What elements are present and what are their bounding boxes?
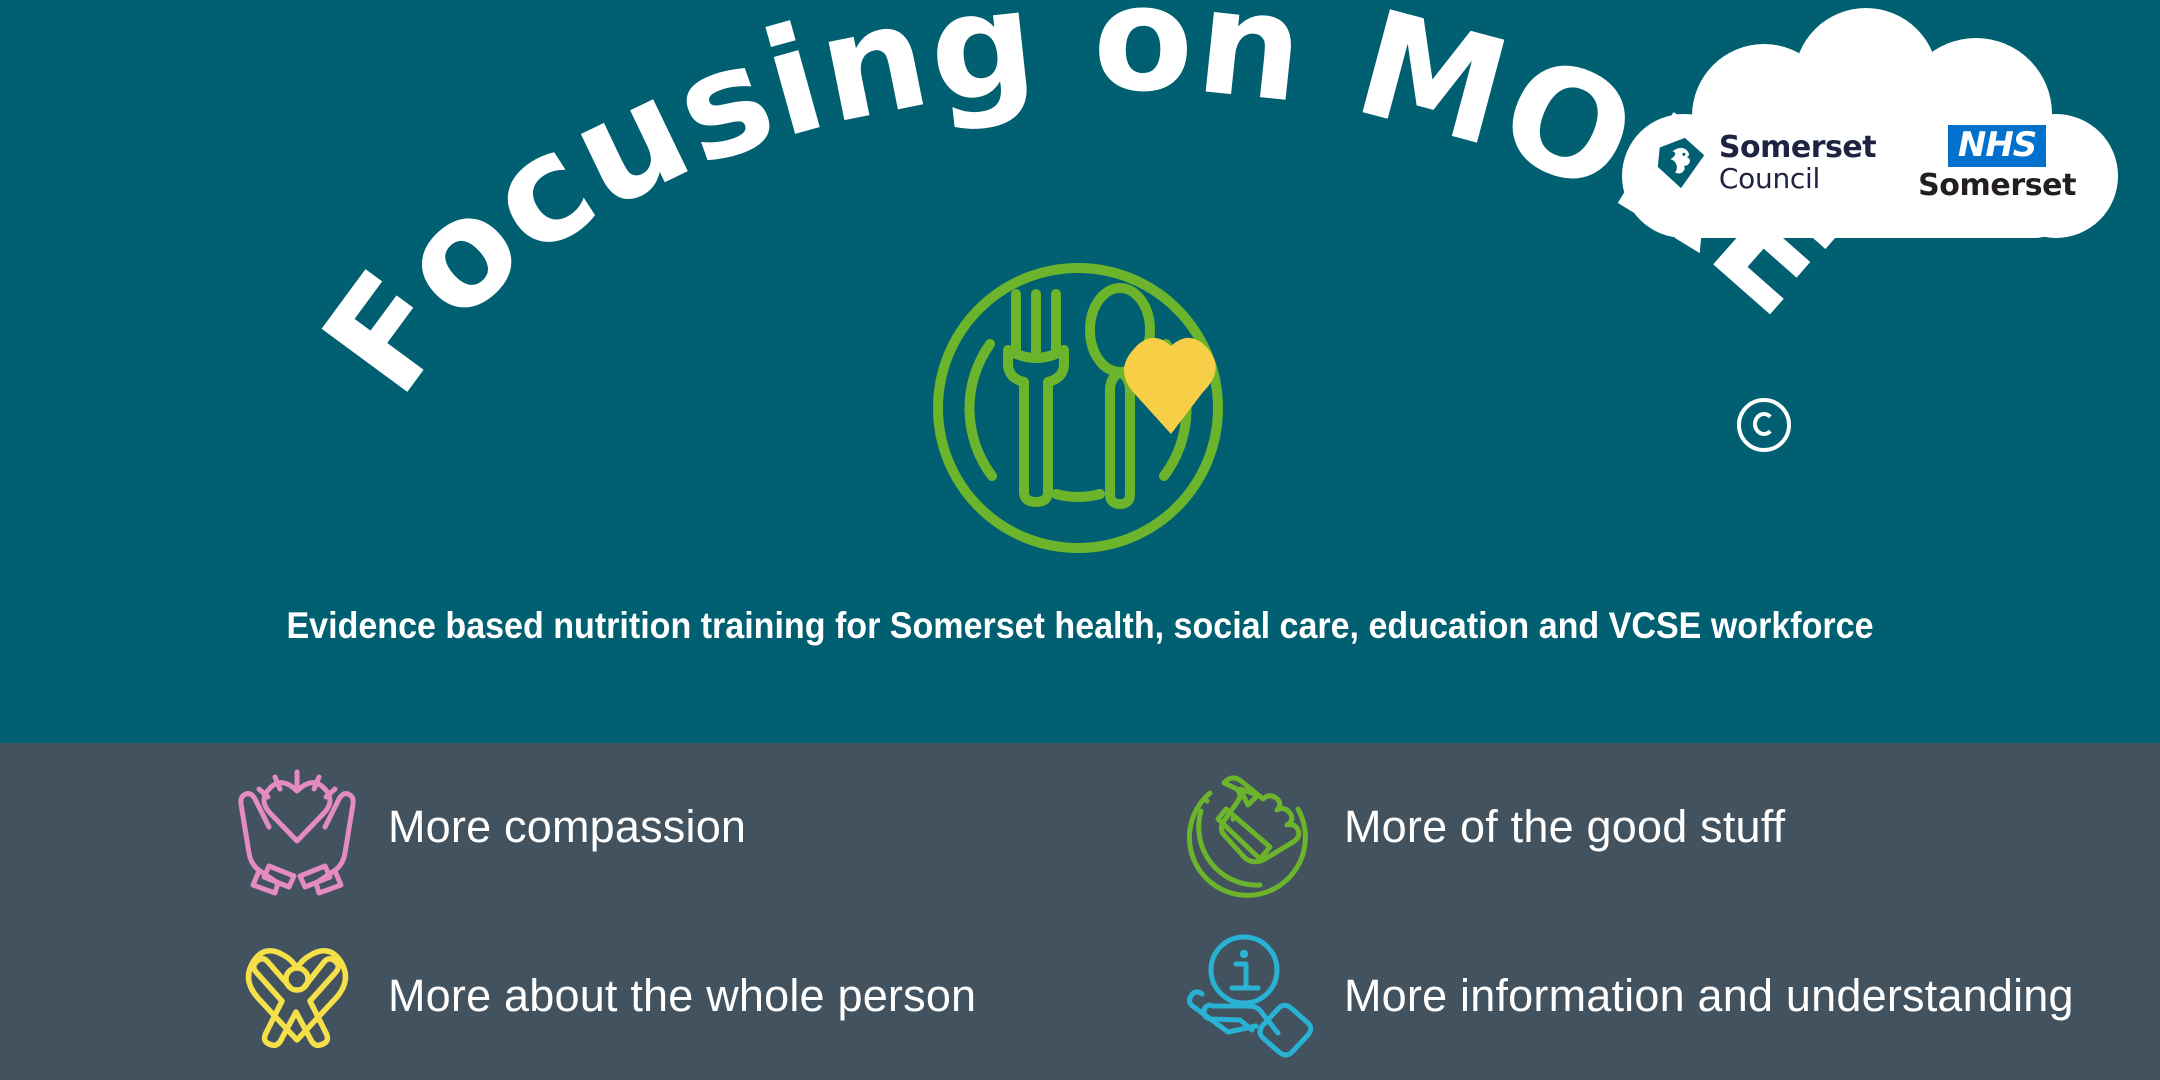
feature-item-information: More information and understanding <box>1090 911 2160 1080</box>
nhs-badge: NHS <box>1948 125 2046 167</box>
feature-label-good-stuff: More of the good stuff <box>1344 801 1785 853</box>
feature-label-information: More information and understanding <box>1344 970 2074 1022</box>
somerset-council-wordmark: Somerset Council <box>1719 133 1876 193</box>
feature-item-good-stuff: More of the good stuff <box>1090 743 2160 911</box>
nhs-badge-text: NHS <box>1958 128 2036 162</box>
feature-grid: More compassion More of the good <box>0 743 2160 1080</box>
copyright-icon <box>1737 398 1791 452</box>
nhs-somerset-logo: NHS Somerset <box>1918 125 2076 201</box>
heart-person-icon <box>232 932 362 1060</box>
somerset-council-name: Somerset <box>1719 133 1876 163</box>
focusing-on-more-banner: Focusing on MORE <box>0 0 2160 1080</box>
partner-logos-cloud: Somerset Council NHS Somerset <box>1594 8 2134 238</box>
logo-row: Somerset Council NHS Somerset <box>1594 108 2134 218</box>
somerset-council-logo: Somerset Council <box>1652 133 1876 193</box>
feature-label-compassion: More compassion <box>388 801 746 853</box>
heart-shape <box>1124 338 1216 434</box>
hand-holding-info-icon <box>1188 932 1318 1060</box>
hands-holding-heart-icon <box>232 763 362 891</box>
feature-label-whole-person: More about the whole person <box>388 970 976 1022</box>
thumbs-up-circle-icon <box>1188 763 1318 891</box>
nhs-sub-text: Somerset <box>1918 171 2076 201</box>
somerset-council-sub: Council <box>1719 165 1876 193</box>
dragon-shield-icon <box>1652 134 1710 192</box>
plate-fork-spoon-heart-icon <box>928 258 1228 558</box>
feature-item-compassion: More compassion <box>0 743 1090 911</box>
subtitle: Evidence based nutrition training for So… <box>86 605 2073 647</box>
feature-item-whole-person: More about the whole person <box>0 911 1090 1080</box>
